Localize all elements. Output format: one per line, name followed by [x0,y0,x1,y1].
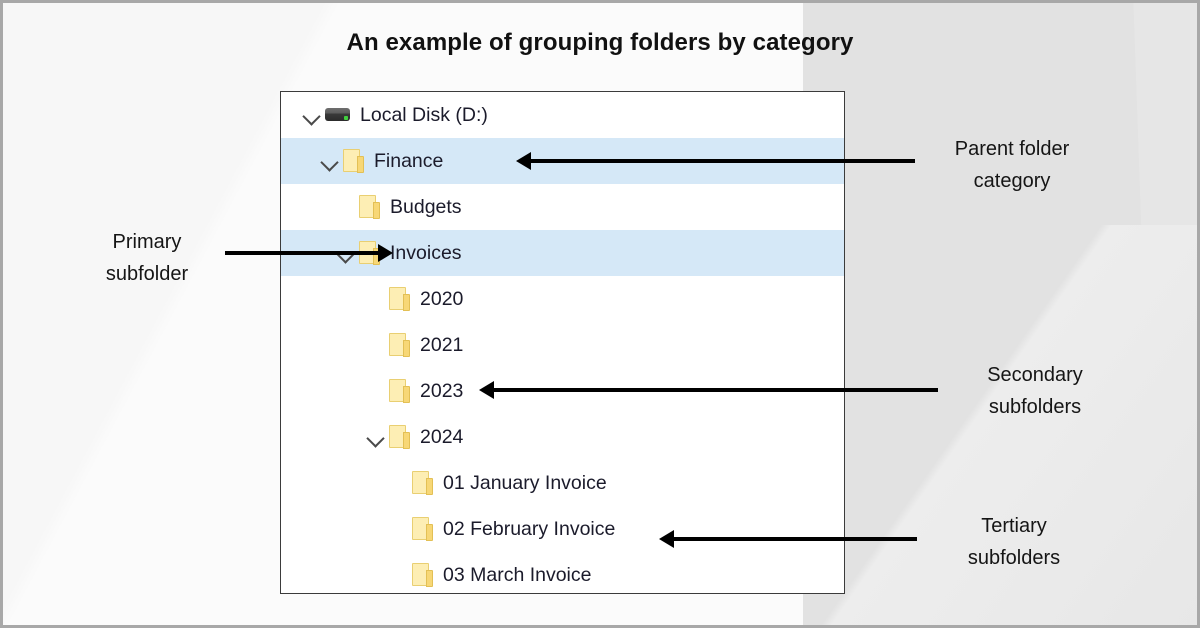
annotation-arrow-tertiary-subfolders [672,537,917,541]
tree-row-label: Local Disk (D:) [360,104,488,127]
annotation-label-secondary-subfolders: Secondary subfolders [947,359,1123,424]
annotation-label-parent-folder-category: Parent folder category [924,133,1100,198]
folder-icon [389,379,411,404]
arrow-head-icon [516,152,531,170]
folder-icon [389,287,411,312]
tree-row-label: 2023 [420,380,463,403]
tree-row[interactable]: Local Disk (D:) [281,92,844,138]
annotation-arrow-secondary-subfolders [492,388,938,392]
annotation-arrow-primary-subfolder [225,251,380,255]
tree-row[interactable]: 02 February Invoice [281,506,844,552]
file-explorer-panel: Local Disk (D:) Finance Budgets Invoices… [280,91,845,594]
screenshot-canvas: An example of grouping folders by catego… [0,0,1200,628]
tree-row-label: 03 March Invoice [443,564,592,587]
tree-row[interactable]: 2024 [281,414,844,460]
folder-icon [412,517,434,542]
tree-row-label: 2024 [420,426,463,449]
tree-row[interactable]: 03 March Invoice [281,552,844,594]
tree-row-label: 2020 [420,288,463,311]
tree-row-label: 02 February Invoice [443,518,615,541]
arrow-head-icon [378,244,393,262]
tree-row-label: Invoices [390,242,462,265]
chevron-down-icon[interactable] [317,148,343,174]
tree-row[interactable]: 2020 [281,276,844,322]
tree-row-label: Budgets [390,196,462,219]
folder-icon [343,149,365,174]
folder-icon [412,471,434,496]
annotation-arrow-parent-folder-category [529,159,915,163]
folder-icon [359,195,381,220]
folder-icon [412,563,434,588]
tree-row-label: 01 January Invoice [443,472,607,495]
chevron-down-icon[interactable] [299,102,325,128]
folder-icon [389,425,411,450]
tree-row[interactable]: 01 January Invoice [281,460,844,506]
annotation-label-primary-subfolder: Primary subfolder [59,226,235,291]
drive-icon [325,106,351,124]
page-title: An example of grouping folders by catego… [3,29,1197,57]
tree-row-label: 2021 [420,334,463,357]
arrow-head-icon [659,530,674,548]
chevron-down-icon[interactable] [363,424,389,450]
tree-row[interactable]: Budgets [281,184,844,230]
tree-row[interactable]: 2021 [281,322,844,368]
annotation-label-tertiary-subfolders: Tertiary subfolders [926,510,1102,575]
folder-icon [389,333,411,358]
tree-row-label: Finance [374,150,443,173]
arrow-head-icon [479,381,494,399]
